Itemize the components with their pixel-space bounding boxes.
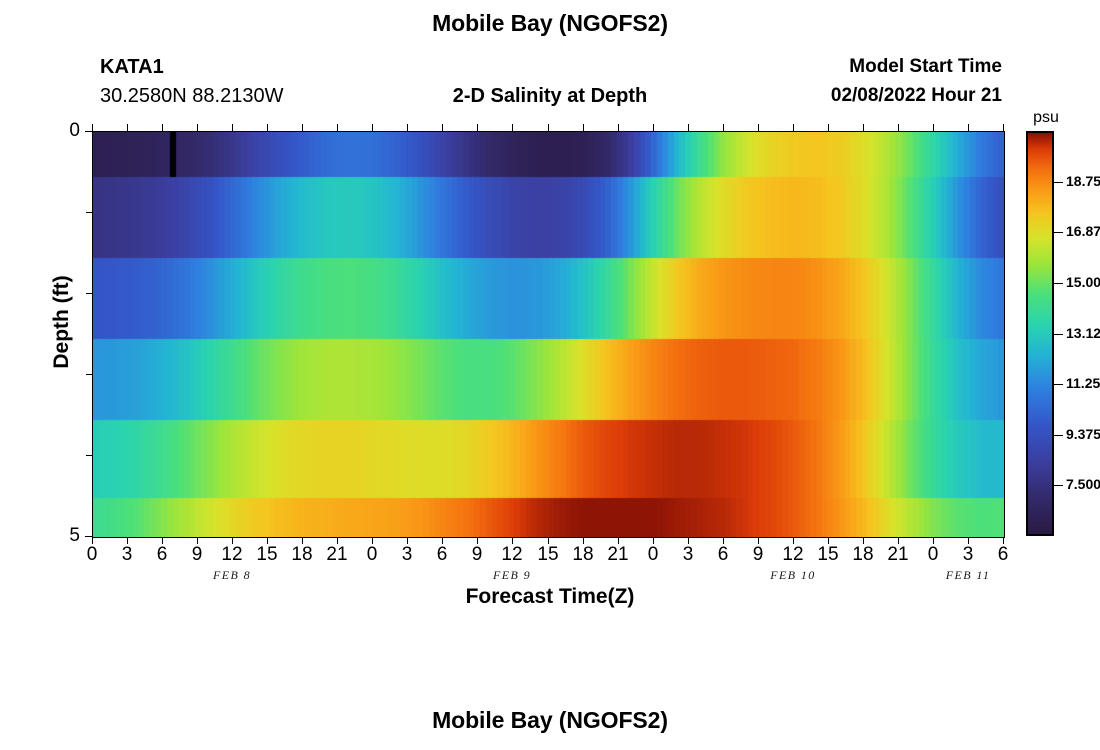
x-tick-label: 21 <box>598 544 638 566</box>
x-tick-label: 12 <box>492 544 532 566</box>
x-tick-mark <box>968 537 969 544</box>
x-tick-label: 6 <box>422 544 462 566</box>
x-tick-mark-top <box>828 124 829 131</box>
x-tick-mark-top <box>548 124 549 131</box>
colorbar-tick-mark <box>1054 283 1063 284</box>
x-tick-mark-top <box>793 124 794 131</box>
x-tick-mark <box>372 537 373 544</box>
colorbar-tick-label: 15.000 <box>1066 274 1100 290</box>
x-tick-mark-top <box>162 124 163 131</box>
y-tick-mark-minor <box>86 455 92 456</box>
colorbar-tick-label: 18.750 <box>1066 173 1100 189</box>
x-tick-mark-top <box>688 124 689 131</box>
x-tick-label: 6 <box>983 544 1023 566</box>
colorbar-tick-label: 13.125 <box>1066 325 1100 341</box>
x-tick-mark <box>127 537 128 544</box>
x-tick-label: 15 <box>528 544 568 566</box>
day-label: FEB 11 <box>923 568 1013 583</box>
y-tick-mark <box>85 536 92 537</box>
x-tick-mark <box>758 537 759 544</box>
x-tick-label: 3 <box>948 544 988 566</box>
x-tick-mark <box>933 537 934 544</box>
main-title: Mobile Bay (NGOFS2) <box>0 10 1100 37</box>
x-tick-mark-top <box>302 124 303 131</box>
model-start-time-value: 02/08/2022 Hour 21 <box>831 85 1002 107</box>
y-axis-title: Depth (ft) <box>50 252 74 392</box>
x-tick-mark-top <box>407 124 408 131</box>
x-tick-label: 3 <box>668 544 708 566</box>
x-tick-mark <box>267 537 268 544</box>
x-tick-label: 18 <box>843 544 883 566</box>
colorbar-tick-mark <box>1054 232 1063 233</box>
x-tick-mark-top <box>197 124 198 131</box>
x-tick-mark <box>442 537 443 544</box>
x-tick-mark <box>583 537 584 544</box>
y-tick-label: 5 <box>54 525 80 547</box>
x-tick-mark-top <box>337 124 338 131</box>
x-tick-mark-top <box>618 124 619 131</box>
x-tick-mark-top <box>898 124 899 131</box>
x-tick-label: 6 <box>142 544 182 566</box>
x-tick-mark <box>653 537 654 544</box>
x-tick-label: 0 <box>913 544 953 566</box>
x-tick-label: 18 <box>563 544 603 566</box>
x-tick-mark-top <box>933 124 934 131</box>
colorbar-units-label: psu <box>1026 109 1066 127</box>
x-tick-label: 0 <box>352 544 392 566</box>
x-tick-mark <box>337 537 338 544</box>
y-tick-mark-minor <box>86 293 92 294</box>
x-tick-mark-top <box>583 124 584 131</box>
x-tick-label: 21 <box>878 544 918 566</box>
x-tick-mark-top <box>723 124 724 131</box>
colorbar-tick-mark <box>1054 334 1063 335</box>
x-tick-label: 3 <box>107 544 147 566</box>
x-tick-mark <box>1003 537 1004 544</box>
colorbar-gradient <box>1026 131 1054 536</box>
model-start-time-label: Model Start Time <box>849 56 1002 78</box>
x-axis-title: Forecast Time(Z) <box>0 585 1100 609</box>
x-tick-mark-top <box>512 124 513 131</box>
x-tick-mark-top <box>127 124 128 131</box>
x-tick-mark-top <box>653 124 654 131</box>
x-tick-mark <box>828 537 829 544</box>
x-tick-label: 0 <box>72 544 112 566</box>
colorbar-tick-mark <box>1054 435 1063 436</box>
x-tick-label: 15 <box>808 544 848 566</box>
x-tick-label: 18 <box>282 544 322 566</box>
salinity-heatmap-plot <box>92 131 1005 538</box>
x-tick-mark <box>197 537 198 544</box>
day-label: FEB 8 <box>187 568 277 583</box>
x-tick-label: 0 <box>633 544 673 566</box>
x-tick-label: 9 <box>457 544 497 566</box>
x-tick-label: 3 <box>387 544 427 566</box>
x-tick-mark <box>92 537 93 544</box>
x-tick-mark <box>512 537 513 544</box>
colorbar-tick-label: 11.250 <box>1066 375 1100 391</box>
x-tick-mark-top <box>372 124 373 131</box>
x-tick-mark <box>688 537 689 544</box>
colorbar <box>1026 131 1054 536</box>
x-tick-label: 9 <box>738 544 778 566</box>
colorbar-tick-mark <box>1054 485 1063 486</box>
x-tick-label: 12 <box>212 544 252 566</box>
y-tick-mark <box>85 131 92 132</box>
x-tick-mark-top <box>442 124 443 131</box>
y-tick-mark-minor <box>86 374 92 375</box>
colorbar-tick-mark <box>1054 182 1063 183</box>
colorbar-tick-label: 9.375 <box>1066 426 1100 442</box>
x-tick-mark-top <box>968 124 969 131</box>
x-tick-mark <box>723 537 724 544</box>
x-tick-label: 6 <box>703 544 743 566</box>
x-tick-label: 9 <box>177 544 217 566</box>
x-tick-label: 15 <box>247 544 287 566</box>
x-tick-mark <box>232 537 233 544</box>
x-tick-mark <box>302 537 303 544</box>
x-tick-mark <box>162 537 163 544</box>
colorbar-tick-mark <box>1054 384 1063 385</box>
x-tick-mark-top <box>92 124 93 131</box>
x-tick-mark-top <box>863 124 864 131</box>
x-tick-label: 21 <box>317 544 357 566</box>
x-tick-mark-top <box>232 124 233 131</box>
day-label: FEB 10 <box>748 568 838 583</box>
x-tick-mark <box>407 537 408 544</box>
x-tick-mark <box>898 537 899 544</box>
heatmap-canvas <box>93 132 1004 537</box>
x-tick-mark <box>863 537 864 544</box>
x-tick-mark <box>548 537 549 544</box>
x-tick-mark-top <box>758 124 759 131</box>
y-tick-mark-minor <box>86 212 92 213</box>
x-tick-label: 12 <box>773 544 813 566</box>
station-id: KATA1 <box>100 56 164 79</box>
colorbar-tick-label: 16.875 <box>1066 223 1100 239</box>
x-tick-mark-top <box>477 124 478 131</box>
y-tick-label: 0 <box>54 120 80 142</box>
x-tick-mark <box>477 537 478 544</box>
x-tick-mark <box>618 537 619 544</box>
bottom-title: Mobile Bay (NGOFS2) <box>0 707 1100 734</box>
x-tick-mark-top <box>267 124 268 131</box>
day-label: FEB 9 <box>467 568 557 583</box>
x-tick-mark-top <box>1003 124 1004 131</box>
colorbar-tick-label: 7.500 <box>1066 476 1100 492</box>
x-tick-mark <box>793 537 794 544</box>
